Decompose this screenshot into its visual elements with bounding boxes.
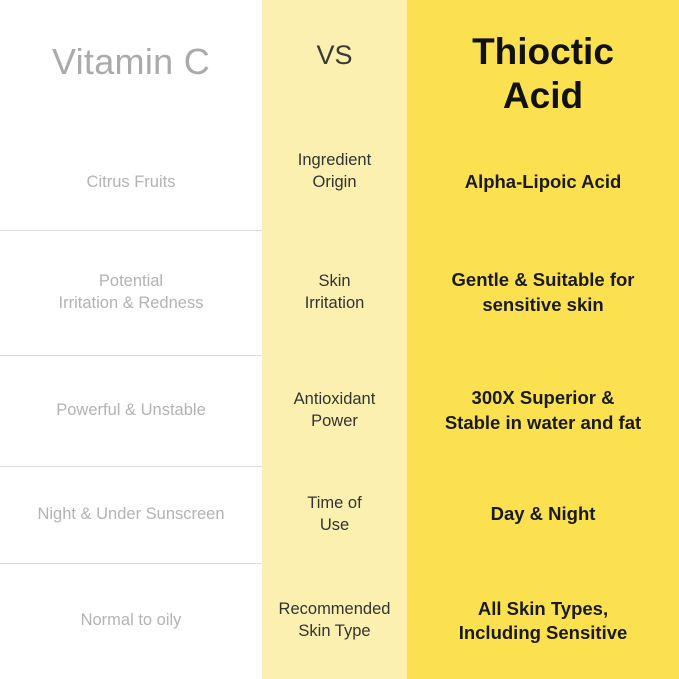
row-0-left-value: Citrus Fruits: [10, 172, 252, 230]
row-4-right-value: All Skin Types, Including Sensitive: [407, 563, 679, 679]
row-1-right-line1: Gentle & Suitable for: [452, 268, 635, 292]
row-3-mid-line1: Time of: [307, 493, 361, 515]
row-2-right-value: 300X Superior & Stable in water and fat: [407, 355, 679, 466]
vs-label: VS: [272, 38, 397, 74]
page-title-right-line2: Acid: [417, 74, 669, 118]
row-1-left-value: Potential Irritation & Redness: [0, 230, 262, 355]
row-1-right-value: Gentle & Suitable for sensitive skin: [407, 230, 679, 355]
row-4-mid-label: Recommended Skin Type: [262, 563, 407, 679]
row-3-right-text: Day & Night: [491, 502, 596, 526]
row-1-mid-line1: Skin: [305, 271, 365, 293]
row-4-mid-text: Recommended Skin Type: [279, 599, 391, 643]
page-title-right-line1: Thioctic: [417, 30, 669, 74]
row-2-right-text: 300X Superior & Stable in water and fat: [445, 386, 641, 435]
table-row-time-of-use: Night & Under Sunscreen Time of Use Day …: [0, 466, 679, 563]
row-2-right-line2: Stable in water and fat: [445, 411, 641, 435]
header-stack-right: Thioctic Acid Alpha-Lipoic Acid: [417, 30, 669, 230]
row-2-left-value: Powerful & Unstable: [0, 355, 262, 466]
row-3-right-value: Day & Night: [407, 466, 679, 563]
row-1-left-text: Potential Irritation & Redness: [59, 271, 204, 315]
row-4-left-line1: Normal to oily: [81, 610, 182, 632]
row-3-right-line1: Day & Night: [491, 502, 596, 526]
row-4-mid-line2: Skin Type: [279, 621, 391, 643]
row-2-mid-line1: Antioxidant: [294, 389, 376, 411]
row-2-right-line1: 300X Superior &: [445, 386, 641, 410]
table-row-antioxidant-power: Powerful & Unstable Antioxidant Power 30…: [0, 355, 679, 466]
comparison-table: Vitamin C Citrus Fruits VS Ingredient Or…: [0, 0, 679, 679]
row-0-mid-label: Ingredient Origin: [272, 150, 397, 230]
header-cell-vitamin-c: Vitamin C Citrus Fruits: [0, 0, 262, 230]
row-4-right-text: All Skin Types, Including Sensitive: [459, 597, 628, 646]
row-1-mid-line2: Irritation: [305, 293, 365, 315]
row-3-mid-label: Time of Use: [262, 466, 407, 563]
row-2-mid-text: Antioxidant Power: [294, 389, 376, 433]
row-1-mid-label: Skin Irritation: [262, 230, 407, 355]
header-stack-mid: VS Ingredient Origin: [272, 38, 397, 230]
row-2-mid-label: Antioxidant Power: [262, 355, 407, 466]
row-4-right-line1: All Skin Types,: [459, 597, 628, 621]
row-3-left-line1: Night & Under Sunscreen: [37, 504, 224, 526]
row-3-left-value: Night & Under Sunscreen: [0, 466, 262, 563]
row-4-left-value: Normal to oily: [0, 563, 262, 679]
row-3-mid-line2: Use: [307, 515, 361, 537]
row-4-mid-line1: Recommended: [279, 599, 391, 621]
page-title-left: Vitamin C: [10, 38, 252, 86]
row-4-left-text: Normal to oily: [81, 610, 182, 632]
row-1-right-text: Gentle & Suitable for sensitive skin: [452, 268, 635, 317]
row-0-mid-label-line2: Origin: [272, 172, 397, 194]
table-row-header: Vitamin C Citrus Fruits VS Ingredient Or…: [0, 0, 679, 230]
row-1-left-line2: Irritation & Redness: [59, 293, 204, 315]
row-0-right-value: Alpha-Lipoic Acid: [417, 170, 669, 230]
row-1-mid-text: Skin Irritation: [305, 271, 365, 315]
header-stack-left: Vitamin C Citrus Fruits: [10, 38, 252, 230]
row-3-left-text: Night & Under Sunscreen: [37, 504, 224, 526]
table-row-skin-irritation: Potential Irritation & Redness Skin Irri…: [0, 230, 679, 355]
row-4-right-line2: Including Sensitive: [459, 621, 628, 645]
header-cell-thioctic-acid: Thioctic Acid Alpha-Lipoic Acid: [407, 0, 679, 230]
page-title-right: Thioctic Acid: [417, 30, 669, 117]
row-2-left-text: Powerful & Unstable: [56, 400, 206, 422]
row-1-left-line1: Potential: [59, 271, 204, 293]
row-2-mid-line2: Power: [294, 411, 376, 433]
row-2-left-line1: Powerful & Unstable: [56, 400, 206, 422]
row-1-right-line2: sensitive skin: [452, 293, 635, 317]
row-0-mid-label-line1: Ingredient: [272, 150, 397, 172]
row-3-mid-text: Time of Use: [307, 493, 361, 537]
header-cell-vs: VS Ingredient Origin: [262, 0, 407, 230]
table-row-recommended-skin-type: Normal to oily Recommended Skin Type All…: [0, 563, 679, 679]
